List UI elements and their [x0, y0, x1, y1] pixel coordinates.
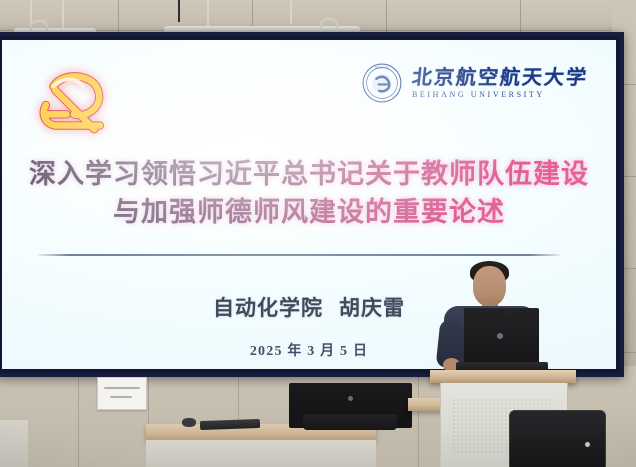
front-desk-panel: [146, 440, 376, 467]
screen-hook: [320, 18, 338, 32]
podium-top: [430, 370, 576, 383]
title-divider-rule: [38, 254, 560, 256]
slide-title: 深入学习领悟习近平总书记关于教师队伍建设 与加强师德师风建设的重要论述: [2, 156, 616, 233]
university-name-cn: 北京航空航天大学: [411, 68, 589, 88]
desk-mouse: [182, 418, 196, 427]
svg-text:BEIHANG: BEIHANG: [375, 65, 390, 69]
screen-hanger-wire: [62, 0, 64, 30]
slide-title-line-1: 深入学习领悟习近平总书记关于教师队伍建设: [2, 156, 616, 194]
university-name-en: BEIHANG UNIVERSITY: [412, 91, 588, 99]
screen-hanger-wire: [207, 0, 209, 26]
cpc-hammer-sickle-icon: [24, 66, 120, 146]
office-chair: [509, 410, 606, 467]
byline-presenter: 胡庆雷: [339, 296, 405, 320]
lecture-hall-scene: BEIHANG 北京航空航天大学 BEIHANG UNIVERSITY 深入学习…: [0, 0, 636, 467]
ceiling-cable: [178, 0, 180, 22]
beihang-seal-icon: BEIHANG: [361, 62, 403, 104]
monitor-indicator-icon: [348, 396, 353, 401]
paper-notice-sign: [97, 377, 147, 410]
university-logo: BEIHANG 北京航空航天大学 BEIHANG UNIVERSITY: [361, 62, 588, 104]
byline-department: 自动化学院: [213, 296, 323, 320]
laptop-logo-icon: [497, 333, 503, 339]
slide-title-line-2: 与加强师德师风建设的重要论述: [2, 194, 616, 232]
chair-marker-icon: [585, 442, 590, 447]
floor-cabinet: [0, 420, 28, 467]
monitor-stand: [303, 414, 397, 430]
screen-hanger-wire: [290, 0, 292, 24]
presenter-head: [473, 266, 506, 306]
